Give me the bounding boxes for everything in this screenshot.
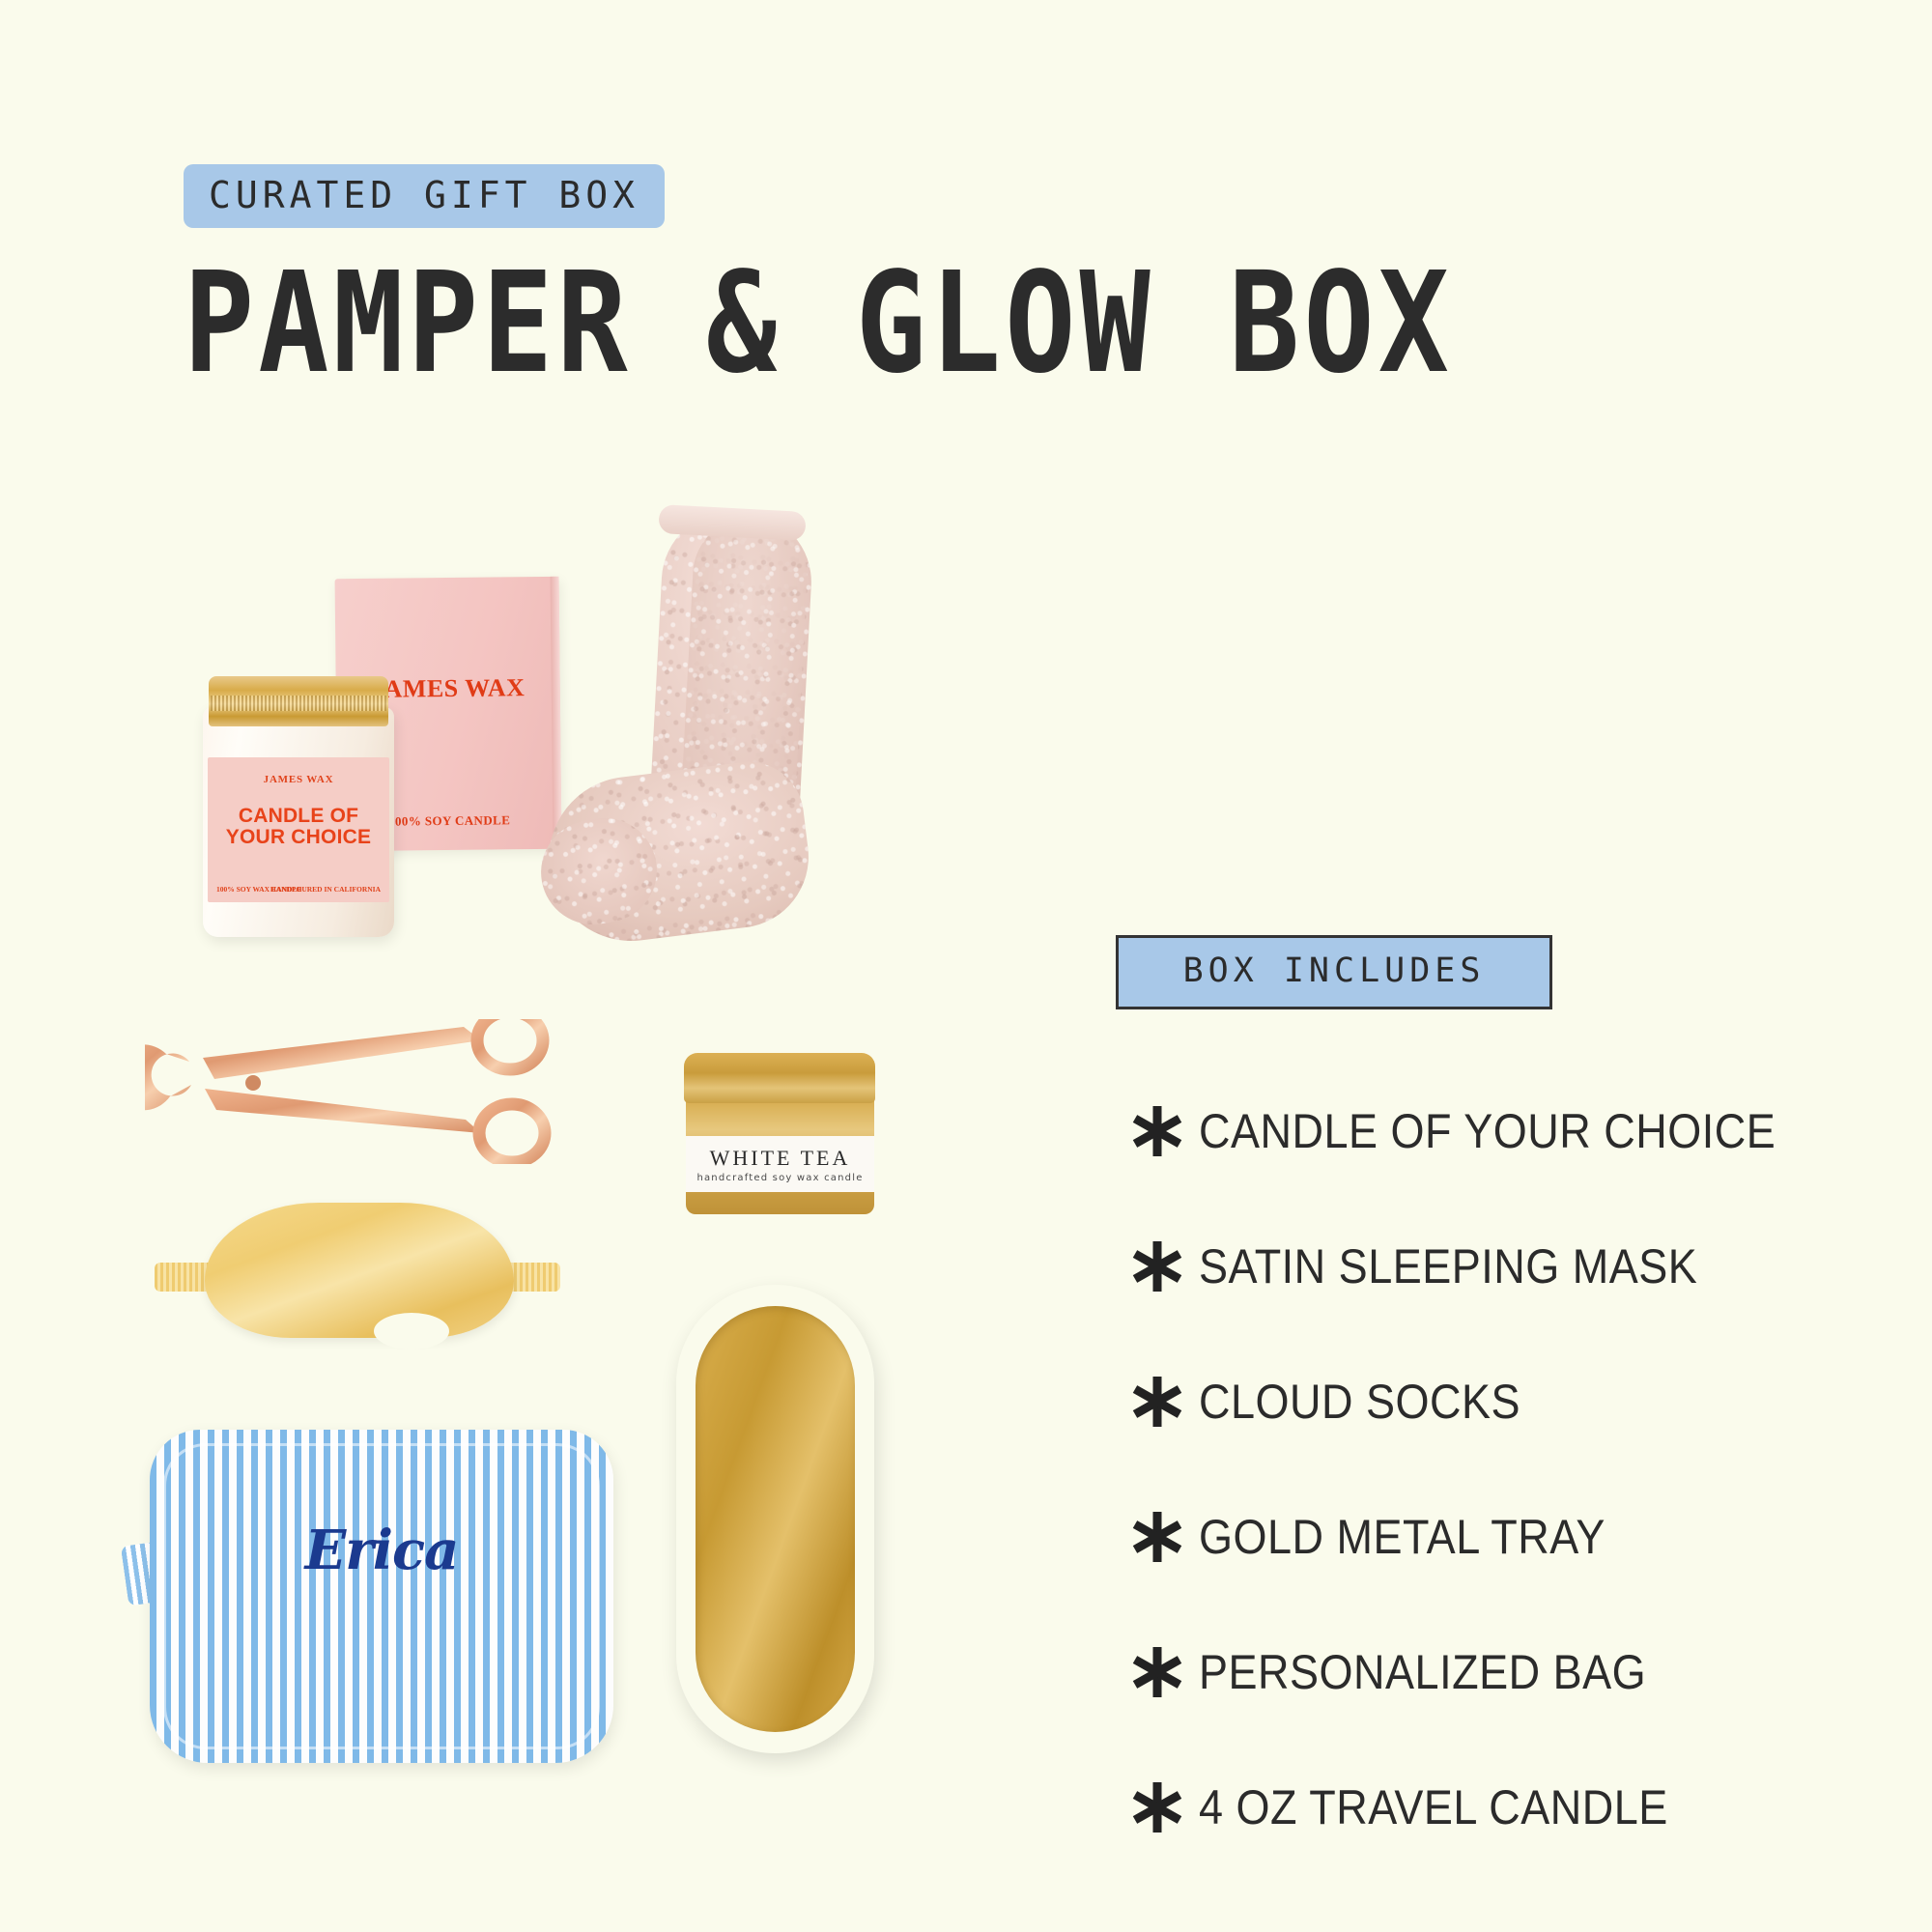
list-item: CANDLE OF YOUR CHOICE xyxy=(1116,1085,1792,1177)
bag-embroidered-name: Erica xyxy=(150,1519,613,1582)
sleep-mask-nose-notch xyxy=(374,1313,449,1350)
list-item-label: SATIN SLEEPING MASK xyxy=(1199,1237,1697,1293)
candle-jar-brand: JAMES WAX xyxy=(208,774,389,785)
candle-jar-main-line-2: YOUR CHOICE xyxy=(208,827,389,848)
personalized-bag-product: Erica xyxy=(150,1430,613,1763)
asterisk-icon xyxy=(1116,1237,1199,1295)
tin-subtitle: handcrafted soy wax candle xyxy=(686,1173,874,1183)
list-item-label: 4 OZ TRAVEL CANDLE xyxy=(1199,1778,1668,1834)
tin-title: WHITE TEA xyxy=(686,1146,874,1171)
list-item-label: GOLD METAL TRAY xyxy=(1199,1508,1605,1564)
box-includes-panel: BOX INCLUDES CANDLE OF YOUR CHOICE SATIN… xyxy=(1116,935,1792,1853)
bag-trim xyxy=(163,1443,600,1749)
cloud-socks-product xyxy=(541,512,831,1034)
list-item-label: PERSONALIZED BAG xyxy=(1199,1643,1646,1699)
asterisk-icon xyxy=(1116,1102,1199,1160)
candle-jar-footer-right: HANDPOURED IN CALIFORNIA xyxy=(270,885,381,894)
satin-sleep-mask-product xyxy=(155,1203,560,1343)
tray-inner-well xyxy=(696,1306,855,1732)
list-item: 4 OZ TRAVEL CANDLE xyxy=(1116,1761,1792,1853)
candle-jar-main-line-1: CANDLE OF xyxy=(208,806,389,827)
candle-jar-lid xyxy=(209,676,388,726)
list-item: SATIN SLEEPING MASK xyxy=(1116,1220,1792,1312)
candle-jar-product: JAMES WAX CANDLE OF YOUR CHOICE 100% SOY… xyxy=(203,676,394,937)
list-item: GOLD METAL TRAY xyxy=(1116,1491,1792,1582)
sleep-mask-body xyxy=(205,1203,514,1338)
asterisk-icon xyxy=(1116,1643,1199,1701)
tin-lid xyxy=(684,1053,875,1103)
list-item: CLOUD SOCKS xyxy=(1116,1355,1792,1447)
candle-jar-main-text: CANDLE OF YOUR CHOICE xyxy=(208,806,389,848)
list-item-label: CLOUD SOCKS xyxy=(1199,1373,1520,1429)
wick-trimmer-icon xyxy=(145,1019,580,1164)
travel-candle-tin-product: WHITE TEA handcrafted soy wax candle xyxy=(676,1053,884,1222)
asterisk-icon xyxy=(1116,1778,1199,1836)
product-collage: JAMES WAX 100% SOY CANDLE JAMES WAX CAND… xyxy=(0,0,1063,1932)
list-item: PERSONALIZED BAG xyxy=(1116,1626,1792,1718)
box-includes-header: BOX INCLUDES xyxy=(1116,935,1552,1009)
asterisk-icon xyxy=(1116,1373,1199,1431)
gold-metal-tray-product xyxy=(676,1285,874,1753)
tin-label: WHITE TEA handcrafted soy wax candle xyxy=(686,1136,874,1192)
list-item-label: CANDLE OF YOUR CHOICE xyxy=(1199,1102,1776,1158)
candle-jar-label: JAMES WAX CANDLE OF YOUR CHOICE 100% SOY… xyxy=(208,757,389,902)
asterisk-icon xyxy=(1116,1508,1199,1566)
wick-trimmer-product xyxy=(145,1019,580,1164)
box-includes-list: CANDLE OF YOUR CHOICE SATIN SLEEPING MAS… xyxy=(1116,1085,1792,1853)
